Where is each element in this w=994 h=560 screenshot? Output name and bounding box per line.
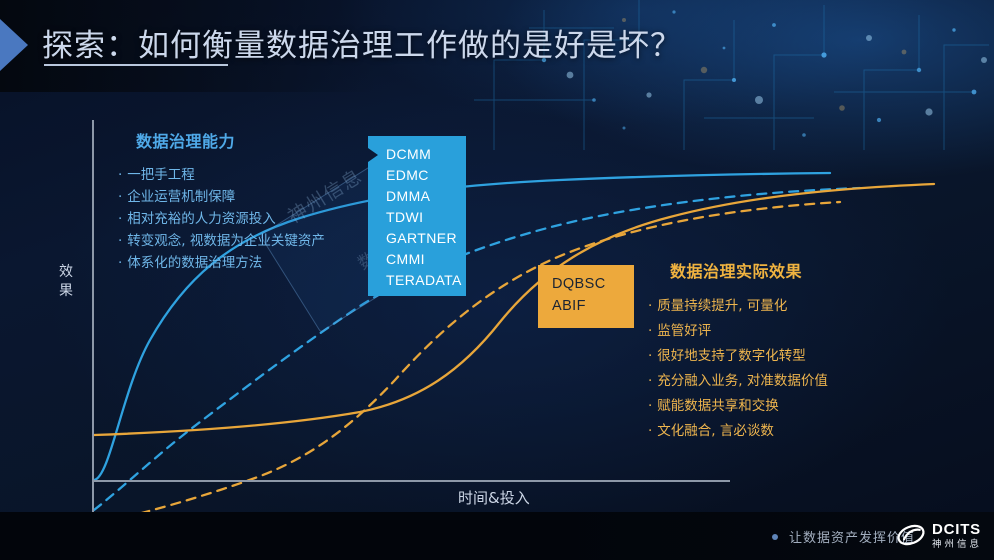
bullet-glyph: · — [648, 423, 652, 439]
effects-panel: 数据治理实际效果 ·质量持续提升, 可量化 ·监管好评 ·很好地支持了数字化转型… — [648, 258, 908, 444]
list-item-label: 文化融合, 言必谈数 — [657, 423, 774, 439]
bullet-glyph: · — [118, 233, 122, 249]
list-item-label: 体系化的数据治理方法 — [127, 255, 262, 271]
bullet-glyph: · — [648, 398, 652, 414]
bullet-glyph: · — [648, 298, 652, 314]
footer-bar: 让数据资产发挥价值 DCITS 神州信息 — [0, 512, 994, 560]
list-item: ·赋能数据共享和交换 — [648, 394, 908, 419]
capability-panel: 数据治理能力 ·一把手工程 ·企业运营机制保障 ·相对充裕的人力资源投入 ·转变… — [118, 128, 348, 274]
standard-label: CMMI — [386, 251, 425, 267]
bullet-glyph: · — [648, 323, 652, 339]
page-title: 探索：如何衡量数据治理工作做的是好是坏？ — [42, 20, 682, 65]
list-item-label: 企业运营机制保障 — [127, 189, 235, 205]
standard-label: TERADATA — [386, 272, 462, 288]
logo-wordmark: DCITS 神州信息 — [932, 522, 982, 550]
y-axis-line — [92, 120, 94, 512]
bullet-glyph: · — [118, 255, 122, 271]
logo-subtitle: 神州信息 — [932, 540, 982, 550]
dcits-swirl-icon — [896, 522, 926, 548]
metric-label: DQBSC — [552, 276, 606, 292]
capability-panel-heading: 数据治理能力 — [136, 128, 348, 152]
list-item-label: 转变观念, 视数据为企业关键资产 — [127, 233, 325, 249]
standard-label: DMMA — [386, 188, 430, 204]
standard-label: TDWI — [386, 209, 423, 225]
standard-label: GARTNER — [386, 230, 457, 246]
list-item: ·监管好评 — [648, 319, 908, 344]
capability-list: ·一把手工程 ·企业运营机制保障 ·相对充裕的人力资源投入 ·转变观念, 视数据… — [118, 164, 348, 274]
bullet-dot-icon — [772, 534, 778, 540]
list-item: ·企业运营机制保障 — [118, 186, 348, 208]
list-item-label: 很好地支持了数字化转型 — [657, 348, 806, 364]
slide-root: 探索：如何衡量数据治理工作做的是好是坏？ 效果 时间&投入 神州信息 数万忠 数… — [0, 0, 994, 560]
list-item-label: 赋能数据共享和交换 — [657, 398, 779, 414]
logo-name: DCITS — [932, 522, 982, 537]
bullet-glyph: · — [118, 189, 122, 205]
list-item: ·充分融入业务, 对准数据价值 — [648, 369, 908, 394]
standard-label: EDMC — [386, 167, 429, 183]
standard-label: DCMM — [386, 146, 431, 162]
standards-callout-box: DCMM EDMC DMMA TDWI GARTNER CMMI TERADAT… — [368, 136, 466, 296]
title-underline — [44, 64, 228, 66]
bullet-glyph: · — [118, 167, 122, 183]
bullet-glyph: · — [648, 373, 652, 389]
triangle-right-icon — [0, 19, 28, 71]
list-item: ·一把手工程 — [118, 164, 348, 186]
list-item: ·体系化的数据治理方法 — [118, 252, 348, 274]
list-item-label: 充分融入业务, 对准数据价值 — [657, 373, 828, 389]
list-item-label: 一把手工程 — [127, 167, 195, 183]
bullet-glyph: · — [118, 211, 122, 227]
list-item: ·质量持续提升, 可量化 — [648, 294, 908, 319]
list-item-label: 质量持续提升, 可量化 — [657, 298, 787, 314]
list-item: ·很好地支持了数字化转型 — [648, 344, 908, 369]
list-item: ·转变观念, 视数据为企业关键资产 — [118, 230, 348, 252]
y-axis-label: 效果 — [55, 263, 77, 301]
list-item: ·文化融合, 言必谈数 — [648, 419, 908, 444]
list-item-label: 相对充裕的人力资源投入 — [127, 211, 276, 227]
bullet-glyph: · — [648, 348, 652, 364]
list-item-label: 监管好评 — [657, 323, 711, 339]
metric-label: ABIF — [552, 298, 586, 314]
effects-panel-heading: 数据治理实际效果 — [670, 258, 908, 282]
metrics-callout-box: DQBSC ABIF — [538, 265, 634, 328]
company-logo: DCITS 神州信息 — [896, 522, 982, 550]
effects-list: ·质量持续提升, 可量化 ·监管好评 ·很好地支持了数字化转型 ·充分融入业务,… — [648, 294, 908, 444]
list-item: ·相对充裕的人力资源投入 — [118, 208, 348, 230]
x-axis-line — [92, 480, 730, 482]
x-axis-label: 时间&投入 — [458, 487, 530, 508]
